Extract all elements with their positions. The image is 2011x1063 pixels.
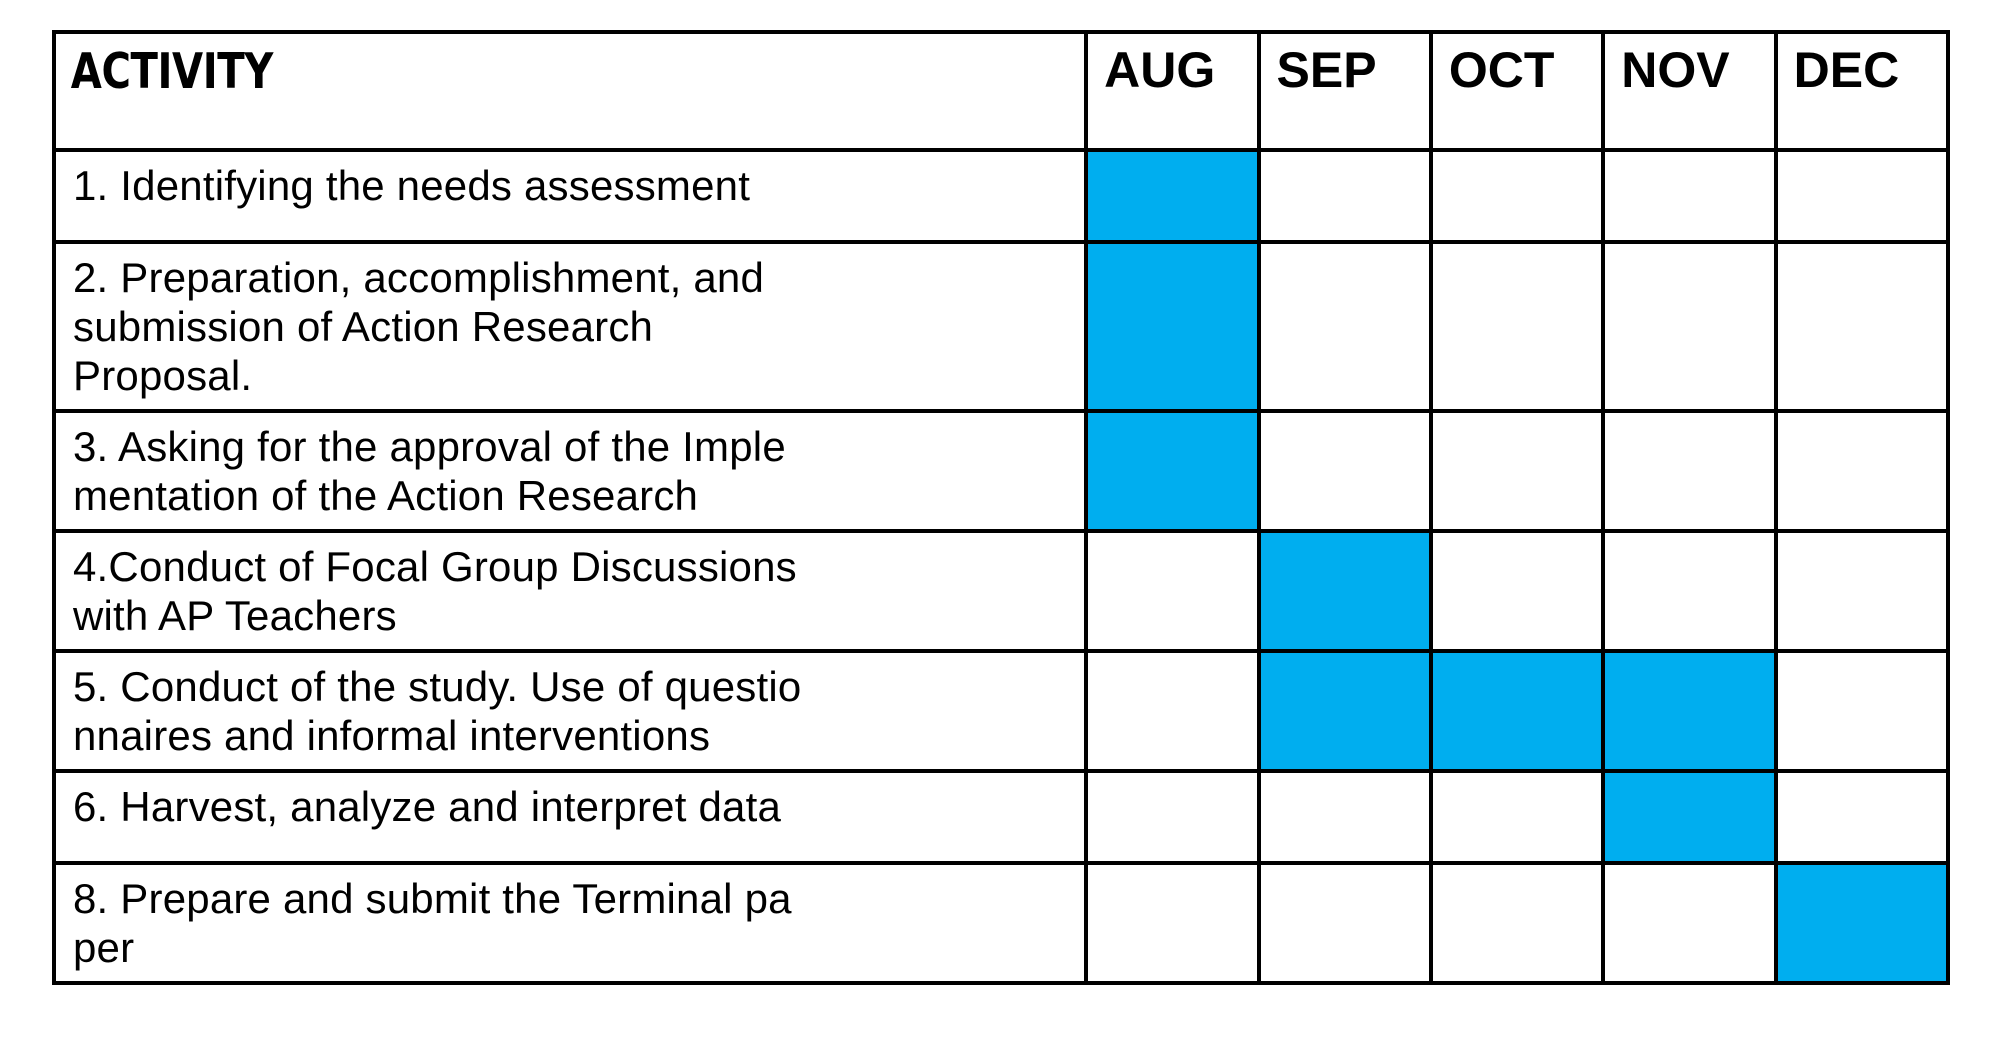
column-header-sep-label: SEP [1261,34,1429,97]
gantt-chart-container: ACTIVITY AUG SEP OCT NOV DEC 1. Ide [52,30,1950,1048]
table-body: 1. Identifying the needs assessment2. Pr… [54,150,1948,983]
timeline-cell-dec[interactable] [1776,863,1948,983]
timeline-cell-oct[interactable] [1431,651,1603,771]
timeline-cell-dec[interactable] [1776,150,1948,242]
timeline-cell-sep[interactable] [1259,531,1431,651]
timeline-cell-nov[interactable] [1603,411,1775,531]
timeline-cell-dec[interactable] [1776,411,1948,531]
table-row: 8. Prepare and submit the Terminal pa pe… [54,863,1948,983]
timeline-cell-nov[interactable] [1603,651,1775,771]
timeline-cell-sep[interactable] [1259,411,1431,531]
activity-label-cell: 5. Conduct of the study. Use of questio … [54,651,1086,771]
column-header-sep: SEP [1259,32,1431,150]
column-header-dec: DEC [1776,32,1948,150]
activity-label: 4.Conduct of Focal Group Discussions wit… [56,533,1084,649]
timeline-cell-nov[interactable] [1603,771,1775,863]
column-header-activity: ACTIVITY [54,32,1086,150]
table-row: 2. Preparation, accomplishment, and subm… [54,242,1948,411]
timeline-cell-dec[interactable] [1776,531,1948,651]
table-row: 3. Asking for the approval of the Imple … [54,411,1948,531]
timeline-cell-aug[interactable] [1086,531,1258,651]
timeline-cell-sep[interactable] [1259,150,1431,242]
timeline-cell-dec[interactable] [1776,771,1948,863]
table-header-row: ACTIVITY AUG SEP OCT NOV DEC [54,32,1948,150]
timeline-cell-nov[interactable] [1603,531,1775,651]
activity-label: 6. Harvest, analyze and interpret data [56,773,1084,840]
column-header-activity-label: ACTIVITY [56,34,899,97]
column-header-nov: NOV [1603,32,1775,150]
activity-label: 1. Identifying the needs assessment [56,152,1084,219]
activity-label-cell: 4.Conduct of Focal Group Discussions wit… [54,531,1086,651]
timeline-cell-sep[interactable] [1259,242,1431,411]
column-header-nov-label: NOV [1605,34,1773,97]
table-row: 6. Harvest, analyze and interpret data [54,771,1948,863]
timeline-cell-nov[interactable] [1603,863,1775,983]
timeline-cell-aug[interactable] [1086,411,1258,531]
column-header-aug-label: AUG [1088,34,1256,97]
timeline-cell-aug[interactable] [1086,242,1258,411]
table-row: 5. Conduct of the study. Use of questio … [54,651,1948,771]
timeline-cell-oct[interactable] [1431,863,1603,983]
timeline-cell-oct[interactable] [1431,531,1603,651]
timeline-cell-oct[interactable] [1431,771,1603,863]
column-header-aug: AUG [1086,32,1258,150]
activity-label-cell: 6. Harvest, analyze and interpret data [54,771,1086,863]
timeline-cell-aug[interactable] [1086,863,1258,983]
timeline-cell-dec[interactable] [1776,242,1948,411]
activity-label: 5. Conduct of the study. Use of questio … [56,653,1084,769]
activity-label: 8. Prepare and submit the Terminal pa pe… [56,865,1084,981]
timeline-cell-sep[interactable] [1259,651,1431,771]
timeline-cell-oct[interactable] [1431,150,1603,242]
activity-label: 2. Preparation, accomplishment, and subm… [56,244,1084,409]
timeline-cell-oct[interactable] [1431,411,1603,531]
activity-label-cell: 8. Prepare and submit the Terminal pa pe… [54,863,1086,983]
timeline-cell-dec[interactable] [1776,651,1948,771]
table-head: ACTIVITY AUG SEP OCT NOV DEC [54,32,1948,150]
timeline-cell-sep[interactable] [1259,771,1431,863]
column-header-oct: OCT [1431,32,1603,150]
activity-label-cell: 2. Preparation, accomplishment, and subm… [54,242,1086,411]
timeline-cell-aug[interactable] [1086,651,1258,771]
column-header-dec-label: DEC [1778,34,1946,97]
timeline-cell-nov[interactable] [1603,242,1775,411]
table-row: 4.Conduct of Focal Group Discussions wit… [54,531,1948,651]
activity-label-cell: 1. Identifying the needs assessment [54,150,1086,242]
activity-label: 3. Asking for the approval of the Imple … [56,413,1084,529]
timeline-cell-sep[interactable] [1259,863,1431,983]
timeline-cell-nov[interactable] [1603,150,1775,242]
timeline-cell-aug[interactable] [1086,150,1258,242]
table-row: 1. Identifying the needs assessment [54,150,1948,242]
activity-timeline-table: ACTIVITY AUG SEP OCT NOV DEC 1. Ide [52,30,1950,985]
timeline-cell-aug[interactable] [1086,771,1258,863]
timeline-cell-oct[interactable] [1431,242,1603,411]
column-header-oct-label: OCT [1433,34,1601,97]
activity-label-cell: 3. Asking for the approval of the Imple … [54,411,1086,531]
